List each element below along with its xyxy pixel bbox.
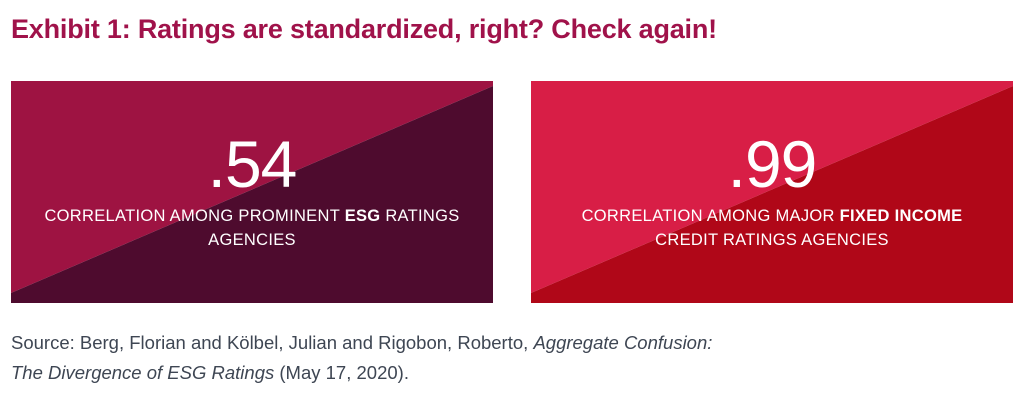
caption-text-bold: ESG <box>345 207 381 225</box>
panel-content-esg: .54 CORRELATION AMONG PROMINENT ESG RATI… <box>11 81 493 303</box>
caption-text-part2: CREDIT RATINGS AGENCIES <box>655 231 889 249</box>
stat-panels-row: .54 CORRELATION AMONG PROMINENT ESG RATI… <box>11 81 1013 303</box>
stat-panel-esg: .54 CORRELATION AMONG PROMINENT ESG RATI… <box>11 81 493 303</box>
source-title-italic-line1: Aggregate Confusion: <box>533 332 712 353</box>
stat-caption-fixed-income: CORRELATION AMONG MAJOR FIXED INCOME CRE… <box>557 204 987 252</box>
source-citation: Source: Berg, Florian and Kölbel, Julian… <box>11 328 971 388</box>
source-prefix: Source: Berg, Florian and Kölbel, Julian… <box>11 332 533 353</box>
source-date: (May 17, 2020). <box>274 362 409 383</box>
stat-value-fixed-income: .99 <box>728 132 817 196</box>
source-title-italic-line2: The Divergence of ESG Ratings <box>11 362 274 383</box>
panel-content-fixed-income: .99 CORRELATION AMONG MAJOR FIXED INCOME… <box>531 81 1013 303</box>
caption-text-part1: CORRELATION AMONG MAJOR <box>582 207 840 225</box>
page-title: Exhibit 1: Ratings are standardized, rig… <box>11 12 991 46</box>
caption-text-part1: CORRELATION AMONG PROMINENT <box>44 207 344 225</box>
exhibit-container: Exhibit 1: Ratings are standardized, rig… <box>0 0 1024 416</box>
stat-value-esg: .54 <box>208 132 297 196</box>
stat-panel-fixed-income: .99 CORRELATION AMONG MAJOR FIXED INCOME… <box>531 81 1013 303</box>
caption-text-bold: FIXED INCOME <box>840 207 963 225</box>
stat-caption-esg: CORRELATION AMONG PROMINENT ESG RATINGS … <box>37 204 467 252</box>
